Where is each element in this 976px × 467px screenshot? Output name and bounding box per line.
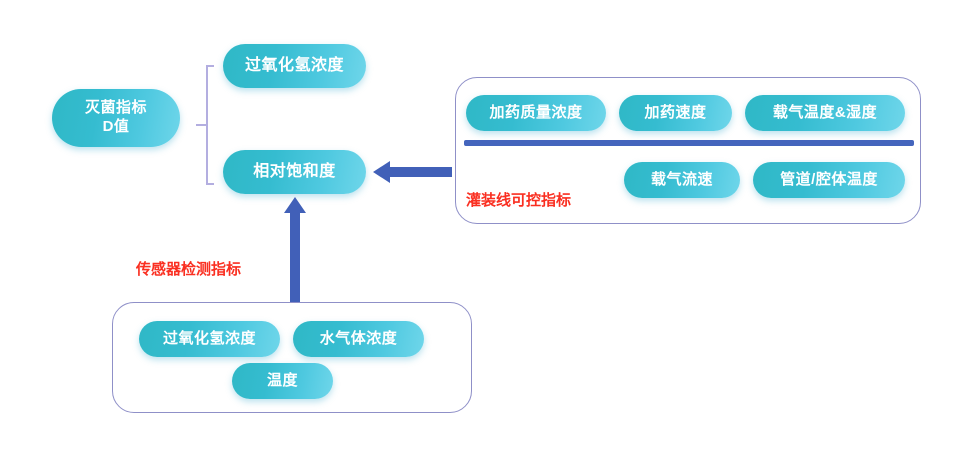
arrow-control-to-saturation-head (373, 161, 390, 183)
node-root-line1: 灭菌指标 (85, 99, 147, 118)
panel-divider-line (464, 140, 914, 146)
node-control-dosing-mass-concentration[interactable]: 加药质量浓度 (466, 95, 606, 131)
diagram-canvas: 灭菌指标 D值 过氧化氢浓度 相对饱和度 加药质量浓度 加药速度 载气温度&湿度 (0, 0, 976, 467)
bracket-stub-middle (196, 124, 207, 126)
node-root-line2: D值 (103, 118, 130, 137)
node-branch-label: 过氧化氢浓度 (245, 57, 344, 75)
arrow-sensor-to-saturation-shaft (290, 212, 300, 312)
node-sensor-water-vapor-concentration[interactable]: 水气体浓度 (293, 321, 424, 357)
node-control-label: 载气流速 (651, 171, 713, 188)
arrow-control-to-saturation-shaft (390, 167, 452, 177)
node-sensor-temperature[interactable]: 温度 (232, 363, 333, 399)
node-control-dosing-speed[interactable]: 加药速度 (619, 95, 732, 131)
bracket-stub-bottom (206, 183, 214, 185)
bracket-stub-top (206, 65, 214, 67)
panel-controllable-indicators: 加药质量浓度 加药速度 载气温度&湿度 载气流速 管道/腔体温度 灌装线可控指标 (455, 77, 921, 224)
node-control-carrier-gas-temp-humidity[interactable]: 载气温度&湿度 (745, 95, 905, 131)
bracket-connector (196, 65, 214, 185)
annotation-sensor-indicators: 传感器检测指标 (136, 258, 241, 279)
node-sensor-h2o2-concentration[interactable]: 过氧化氢浓度 (139, 321, 280, 357)
node-branch-label: 相对饱和度 (253, 163, 336, 181)
node-sensor-label: 过氧化氢浓度 (163, 330, 256, 347)
node-root-sterilization-index[interactable]: 灭菌指标 D值 (52, 89, 180, 147)
node-control-label: 载气温度&湿度 (773, 104, 877, 121)
node-branch-h2o2-concentration[interactable]: 过氧化氢浓度 (223, 44, 366, 88)
node-control-label: 加药质量浓度 (489, 104, 582, 121)
node-sensor-label: 水气体浓度 (320, 330, 398, 347)
node-control-carrier-gas-flow-rate[interactable]: 载气流速 (624, 162, 740, 198)
node-branch-relative-saturation[interactable]: 相对饱和度 (223, 150, 366, 194)
annotation-controllable-indicators: 灌装线可控指标 (466, 189, 571, 210)
node-control-pipe-chamber-temperature[interactable]: 管道/腔体温度 (753, 162, 905, 198)
panel-sensor-indicators: 过氧化氢浓度 水气体浓度 温度 (112, 302, 472, 413)
node-control-label: 加药速度 (644, 104, 706, 121)
arrow-sensor-to-saturation-head (284, 197, 306, 213)
node-sensor-label: 温度 (267, 372, 298, 389)
node-control-label: 管道/腔体温度 (780, 171, 878, 188)
